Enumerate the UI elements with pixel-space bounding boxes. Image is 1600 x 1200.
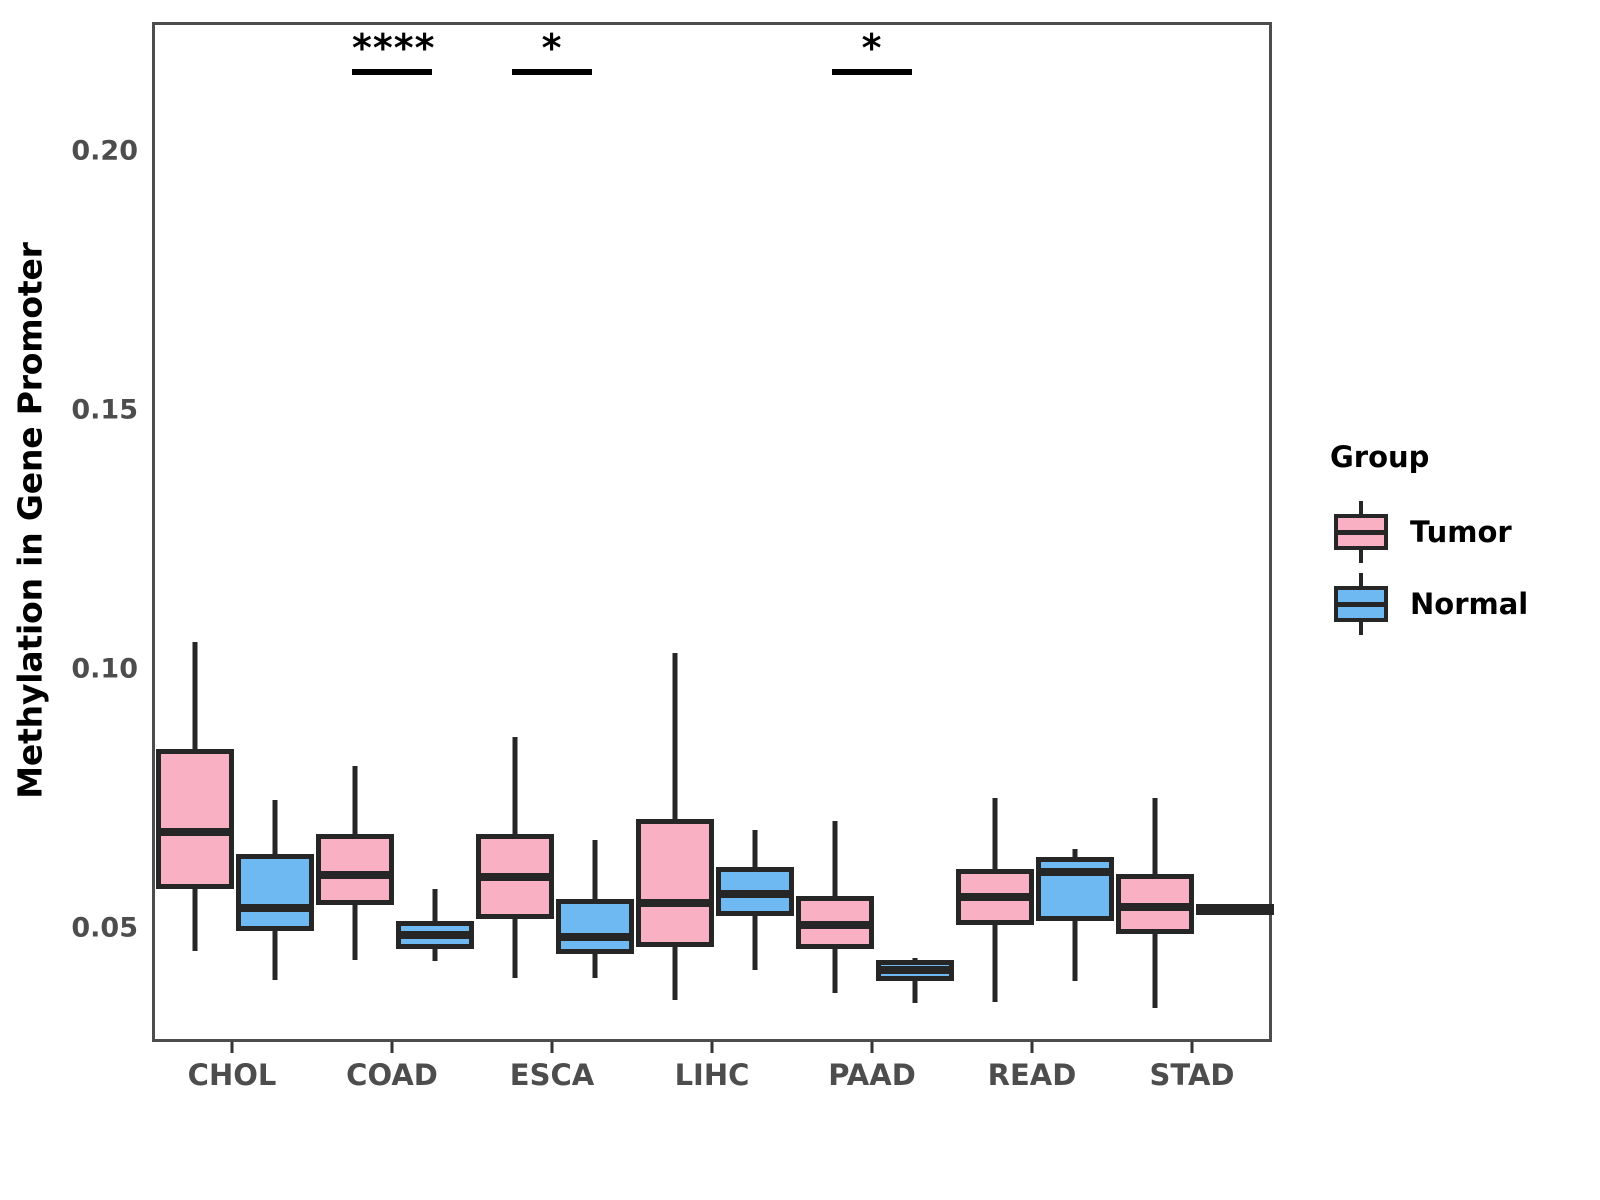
boxplot-esca-tumor [476,25,554,1039]
boxplot-paad-tumor [796,25,874,1039]
boxplot-coad-normal [396,25,474,1039]
x-tick-label-stad: STAD [1092,1058,1292,1092]
x-tick-mark [551,1042,554,1053]
boxplot-read-tumor [956,25,1034,1039]
box [316,834,394,905]
median-line [556,933,634,941]
box [236,854,314,931]
x-tick-mark [1191,1042,1194,1053]
legend: Group TumorNormal [1330,440,1580,640]
y-tick-label: 0.20 [38,136,138,167]
significance-label: * [512,29,592,67]
box [1036,857,1114,921]
significance-bracket-esca: * [512,25,592,75]
boxplot-stad-tumor [1116,25,1194,1039]
significance-bracket-coad: **** [352,25,432,75]
median-line [636,899,714,907]
median-line [236,904,314,912]
median-line [396,931,474,939]
median-line [796,921,874,929]
y-axis-tick-labels: 0.050.100.150.20 [38,0,138,1200]
boxplot-lihc-tumor [636,25,714,1039]
boxplot-stad-normal [1196,25,1274,1039]
median-line [956,893,1034,901]
y-tick-label: 0.05 [38,913,138,944]
plot-panel [152,22,1272,1042]
boxplot-coad-tumor [316,25,394,1039]
median-line [1036,868,1114,876]
significance-label: * [832,29,912,67]
x-tick-mark [391,1042,394,1053]
significance-bracket-paad: * [832,25,912,75]
median-line [876,966,954,974]
legend-item-normal[interactable]: Normal [1330,568,1580,640]
legend-items: TumorNormal [1330,496,1580,640]
legend-key-normal [1330,573,1392,635]
boxplot-figure: Methylation in Gene Promoter 0.050.100.1… [0,0,1600,1200]
legend-label: Tumor [1410,515,1512,549]
boxplot-chol-normal [236,25,314,1039]
x-tick-mark [871,1042,874,1053]
significance-label: **** [352,29,432,67]
legend-title: Group [1330,440,1580,474]
y-tick-label: 0.10 [38,654,138,685]
box [556,899,634,954]
legend-key-tumor [1330,501,1392,563]
x-tick-mark [231,1042,234,1053]
legend-item-tumor[interactable]: Tumor [1330,496,1580,568]
median-line [1196,904,1274,912]
median-line [716,890,794,898]
boxplot-chol-tumor [156,25,234,1039]
y-tick-label: 0.15 [38,395,138,426]
box [156,749,234,889]
median-line [316,871,394,879]
legend-median-line [1334,530,1388,535]
boxplot-lihc-normal [716,25,794,1039]
legend-median-line [1334,602,1388,607]
legend-label: Normal [1410,587,1528,621]
median-line [476,873,554,881]
x-tick-mark [1031,1042,1034,1053]
boxplot-paad-normal [876,25,954,1039]
plot-area [155,25,1269,1039]
x-tick-mark [711,1042,714,1053]
box [636,819,714,946]
boxplot-esca-normal [556,25,634,1039]
boxplot-read-normal [1036,25,1114,1039]
median-line [156,828,234,836]
median-line [1116,903,1194,911]
